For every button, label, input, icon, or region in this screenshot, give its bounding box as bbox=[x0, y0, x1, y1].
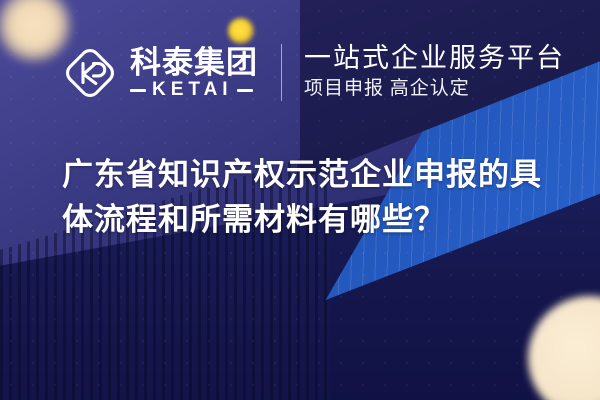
brand-name-en: KETAI bbox=[152, 80, 233, 100]
banner-header: 科泰集团 KETAI 一站式企业服务平台 项目申报 高企认定 bbox=[0, 0, 600, 140]
ketai-monogram-icon bbox=[62, 45, 118, 101]
brand-name-cn: 科泰集团 bbox=[130, 46, 258, 79]
dash-left-icon bbox=[130, 89, 146, 92]
brand-name-en-row: KETAI bbox=[130, 80, 258, 100]
dash-right-icon bbox=[237, 89, 253, 92]
slogan-main-text: 一站式企业服务平台 bbox=[304, 43, 565, 74]
vertical-divider-icon bbox=[281, 44, 282, 101]
slogan-block: 一站式企业服务平台 项目申报 高企认定 bbox=[304, 43, 565, 101]
brand-logo[interactable]: 科泰集团 KETAI bbox=[62, 45, 258, 101]
promo-banner: 科泰集团 KETAI 一站式企业服务平台 项目申报 高企认定 广东省知识产权示范… bbox=[0, 0, 600, 400]
brand-logo-text: 科泰集团 KETAI bbox=[130, 46, 258, 100]
headline: 广东省知识产权示范企业申报的具 体流程和所需材料有哪些？ bbox=[62, 152, 562, 242]
headline-line-2: 体流程和所需材料有哪些？ bbox=[62, 197, 562, 242]
headline-line-1: 广东省知识产权示范企业申报的具 bbox=[62, 152, 562, 197]
slogan-sub-text: 项目申报 高企认定 bbox=[304, 77, 565, 101]
